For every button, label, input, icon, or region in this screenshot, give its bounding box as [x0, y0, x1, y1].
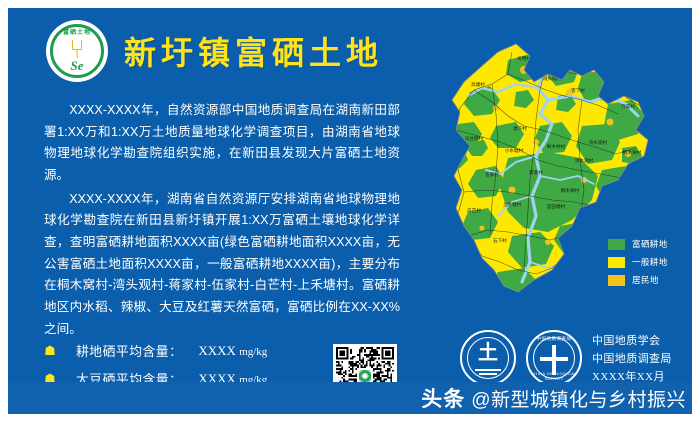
paragraph-2: XXXX-XXXX年，湖南省自然资源厅安排湖南省地球物理地球化学勘查院在新田县新…	[44, 189, 400, 341]
watermark-bar: 头条 @新型城镇化与乡村振兴	[8, 382, 692, 414]
legend-label: 富硒耕地	[632, 238, 668, 250]
svg-text:桐木窝村: 桐木窝村	[561, 187, 580, 194]
map-legend: 富硒耕地 一般耕地 居民地	[608, 238, 668, 286]
logo-se-text: Se	[46, 58, 108, 74]
watermark-handle: @新型城镇化与乡村振兴	[471, 385, 686, 412]
emblem-bottom-text: CHINA GEOLOGICAL SURVEY	[528, 371, 580, 381]
poster-header: 富硒土地 ⑂ Se 新圩镇富硒土地	[46, 20, 383, 82]
svg-text:雪下村: 雪下村	[571, 87, 585, 94]
credit-line-2: 中国地质调查局	[592, 350, 672, 366]
svg-text:桐木窝村: 桐木窝村	[623, 149, 642, 156]
wheat-sprout-icon: ☗	[42, 344, 58, 357]
svg-text:官田塘村: 官田塘村	[547, 203, 566, 210]
legend-swatch-selenium-farmland	[608, 239, 625, 250]
stat-row: ☗ 耕地硒平均含量： XXXX mg/kg	[42, 341, 267, 360]
credits-block: 土 中国地质调查局 CHINA GEOLOGICAL SURVEY 中国地质学会…	[460, 330, 672, 386]
legend-swatch-residential	[608, 275, 625, 286]
emblem-cross-horizontal	[540, 357, 568, 361]
hunan-geology-emblem: 土	[460, 330, 516, 386]
svg-text:白芒村: 白芒村	[467, 207, 481, 214]
svg-text:洞水观村: 洞水观村	[575, 157, 594, 164]
china-geological-survey-emblem: 中国地质调查局 CHINA GEOLOGICAL SURVEY	[526, 330, 582, 386]
svg-text:万家村: 万家村	[621, 103, 635, 110]
svg-text:石下村: 石下村	[493, 237, 507, 244]
svg-text:伍家村: 伍家村	[485, 171, 499, 178]
svg-text:蒋家村: 蒋家村	[529, 169, 543, 176]
selenium-land-logo: 富硒土地 ⑂ Se	[46, 20, 108, 82]
watermark-brand: 头条	[421, 383, 465, 413]
svg-text:马台塘村: 马台塘村	[465, 135, 484, 142]
svg-text:小水塘村: 小水塘村	[505, 147, 524, 154]
legend-swatch-general-farmland	[608, 257, 625, 268]
credit-line-1: 中国地质学会	[592, 332, 672, 348]
emblem-bar	[475, 369, 501, 371]
svg-text:枫木村村: 枫木村村	[547, 143, 566, 150]
emblem-top-text: 中国地质调查局	[528, 336, 580, 342]
description-text: XXXX-XXXX年，自然资源部中国地质调查局在湖南新田部署1:XX万和1:XX…	[44, 100, 400, 342]
legend-item: 富硒耕地	[608, 238, 668, 250]
legend-item: 一般耕地	[608, 256, 668, 268]
page-title: 新圩镇富硒土地	[124, 28, 383, 74]
paragraph-1: XXXX-XXXX年，自然资源部中国地质调查局在湖南新田部署1:XX万和1:XX…	[44, 100, 400, 187]
svg-text:上禾塘村: 上禾塘村	[503, 201, 522, 208]
svg-text:塘下村: 塘下村	[513, 125, 527, 132]
stat-value: XXXX mg/kg	[198, 343, 267, 359]
svg-text:湾头观村: 湾头观村	[589, 139, 608, 146]
credit-text-lines: 中国地质学会 中国地质调查局 XXXX年XX月	[592, 332, 672, 384]
land-use-map[interactable]: 光明村 高塘村 洞头观村 雪下村 万家村 塘下村 马台塘村 小水塘村 枫木村村 …	[412, 30, 684, 320]
emblem-glyph: 土	[462, 343, 514, 363]
stat-label: 耕地硒平均含量：	[76, 341, 182, 360]
legend-item: 居民地	[608, 274, 668, 286]
poster-canvas: 富硒土地 ⑂ Se 新圩镇富硒土地 XXXX-XXXX年，自然资源部中国地质调查…	[8, 8, 692, 414]
legend-label: 一般耕地	[632, 256, 668, 268]
svg-text:高塘村: 高塘村	[471, 81, 485, 88]
legend-label: 居民地	[632, 274, 659, 286]
emblem-bar	[479, 373, 497, 375]
